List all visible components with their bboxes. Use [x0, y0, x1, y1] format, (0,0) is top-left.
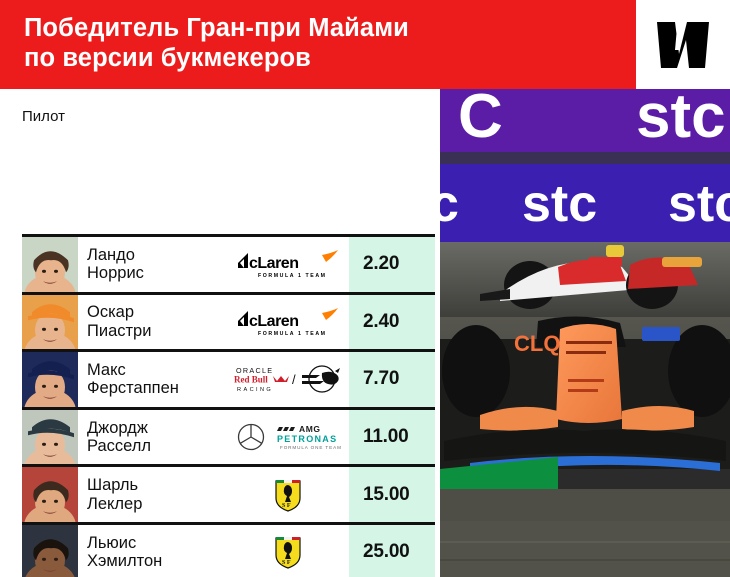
svg-text:S F: S F: [282, 560, 291, 566]
odds-cell: 25.00: [349, 525, 435, 577]
page-title: Победитель Гран-при Майами по версии бук…: [24, 13, 636, 73]
driver-photo-hamilton-graphic: [22, 525, 78, 577]
odds-value: 25.00: [363, 541, 410, 563]
svg-text:stc: stc: [636, 89, 726, 151]
odds-value: 11.00: [363, 426, 409, 448]
odds-cell: 2.20: [349, 237, 435, 292]
odds-table: Пилот Ландо Норрис cLaren FORMULA 1 TEAM…: [0, 89, 440, 577]
table-row[interactable]: Ландо Норрис cLaren FORMULA 1 TEAM 2.20: [22, 237, 435, 295]
svg-text:CLQ: CLQ: [514, 331, 560, 356]
team-logo-cell: S F: [227, 467, 349, 522]
svg-text:c: c: [440, 175, 459, 233]
svg-text:C: C: [458, 89, 503, 151]
driver-name-cell: Макс Ферстаппен: [78, 352, 227, 407]
f1-race-photo: C stc c stc stc: [440, 89, 730, 577]
odds-cell: 2.40: [349, 295, 435, 350]
team-logo-cell: ORACLE Red Bull RACING /: [227, 352, 349, 407]
table-row[interactable]: Макс Ферстаппен ORACLE Red Bull RACING /…: [22, 352, 435, 410]
odds-value: 15.00: [363, 484, 410, 506]
column-header-driver: Пилот: [22, 108, 65, 125]
f1-race-photo-graphic: C stc c stc stc: [440, 89, 730, 577]
odds-value: 7.70: [363, 368, 399, 390]
driver-name: Ландо Норрис: [87, 246, 144, 283]
driver-photo-verstappen: [22, 352, 78, 407]
team-logo-cell: cLaren FORMULA 1 TEAM: [227, 295, 349, 350]
driver-name-cell: Джордж Расселл: [78, 410, 227, 465]
svg-text:FORMULA ONE TEAM: FORMULA ONE TEAM: [280, 445, 342, 450]
sportbox-w-logo-icon: [655, 20, 711, 70]
table-row[interactable]: Льюис Хэмилтон S F 25.00: [22, 525, 435, 577]
table-row[interactable]: Джордж Расселл AMG PETRONAS FORMULA ONE …: [22, 410, 435, 468]
driver-photo-piastri-graphic: [22, 295, 78, 350]
svg-text:stc: stc: [668, 175, 730, 233]
driver-photo-verstappen-graphic: [22, 352, 78, 407]
table-row[interactable]: Оскар Пиастри cLaren FORMULA 1 TEAM 2.40: [22, 295, 435, 353]
svg-text:AMG: AMG: [299, 424, 321, 434]
odds-cell: 11.00: [349, 410, 435, 465]
driver-name-cell: Оскар Пиастри: [78, 295, 227, 350]
driver-name-cell: Ландо Норрис: [78, 237, 227, 292]
driver-photo-norris: [22, 237, 78, 292]
svg-text:/: /: [292, 372, 296, 387]
mercedes-logo-icon: AMG PETRONAS FORMULA ONE TEAM: [233, 422, 343, 452]
driver-name-cell: Шарль Леклер: [78, 467, 227, 522]
driver-name: Шарль Леклер: [87, 476, 142, 513]
driver-photo-piastri: [22, 295, 78, 350]
odds-table-rows: Ландо Норрис cLaren FORMULA 1 TEAM 2.20 …: [22, 234, 435, 577]
team-logo-cell: AMG PETRONAS FORMULA ONE TEAM: [227, 410, 349, 465]
odds-cell: 7.70: [349, 352, 435, 407]
svg-text:FORMULA 1 TEAM: FORMULA 1 TEAM: [258, 273, 327, 279]
driver-photo-russell: [22, 410, 78, 465]
svg-text:PETRONAS: PETRONAS: [277, 434, 337, 444]
team-logo-cell: S F: [227, 525, 349, 577]
odds-value: 2.20: [363, 253, 399, 275]
driver-name: Макс Ферстаппен: [87, 361, 179, 398]
driver-name: Льюис Хэмилтон: [87, 534, 162, 571]
foreground-mclaren-car: CLQ: [440, 316, 730, 475]
driver-photo-leclerc: [22, 467, 78, 522]
svg-text:S F: S F: [282, 503, 291, 509]
odds-cell: 15.00: [349, 467, 435, 522]
driver-name: Джордж Расселл: [87, 419, 151, 456]
infographic-root: Победитель Гран-при Майами по версии бук…: [0, 0, 730, 577]
driver-photo-norris-graphic: [22, 237, 78, 292]
mclaren-logo-icon: cLaren FORMULA 1 TEAM: [236, 307, 340, 337]
svg-text:cLaren: cLaren: [249, 255, 298, 272]
odds-value: 2.40: [363, 311, 399, 333]
driver-name-cell: Льюис Хэмилтон: [78, 525, 227, 577]
table-row[interactable]: Шарль Леклер S F 15.00: [22, 467, 435, 525]
mclaren-logo-icon: cLaren FORMULA 1 TEAM: [236, 249, 340, 279]
driver-photo-russell-graphic: [22, 410, 78, 465]
ferrari-logo-icon: S F: [273, 535, 303, 569]
svg-text:Red Bull: Red Bull: [234, 375, 268, 385]
svg-text:RACING: RACING: [237, 387, 273, 393]
svg-text:cLaren: cLaren: [249, 313, 298, 330]
svg-text:FORMULA 1 TEAM: FORMULA 1 TEAM: [258, 331, 327, 337]
header-banner: Победитель Гран-при Майами по версии бук…: [0, 0, 636, 89]
svg-text:stc: stc: [522, 175, 597, 233]
team-logo-cell: cLaren FORMULA 1 TEAM: [227, 237, 349, 292]
driver-photo-leclerc-graphic: [22, 467, 78, 522]
redbull-logo-icon: ORACLE Red Bull RACING /: [232, 364, 344, 394]
driver-name: Оскар Пиастри: [87, 303, 151, 340]
driver-photo-hamilton: [22, 525, 78, 577]
ferrari-logo-icon: S F: [273, 478, 303, 512]
brand-logo-box: [636, 0, 730, 89]
